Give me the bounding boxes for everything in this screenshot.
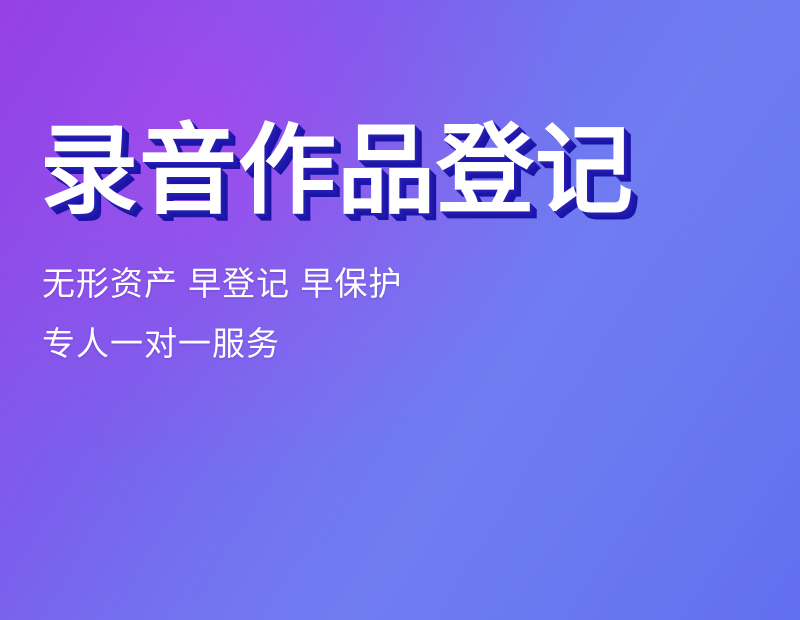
- banner-tagline-primary: 无形资产 早登记 早保护: [42, 267, 402, 300]
- banner-content: 录音作品登记 无形资产 早登记 早保护 专人一对一服务: [40, 0, 740, 620]
- banner-tagline-secondary: 专人一对一服务: [42, 327, 280, 360]
- banner-headline: 录音作品登记: [40, 121, 634, 219]
- promo-banner: 录音作品登记 无形资产 早登记 早保护 专人一对一服务: [0, 0, 800, 620]
